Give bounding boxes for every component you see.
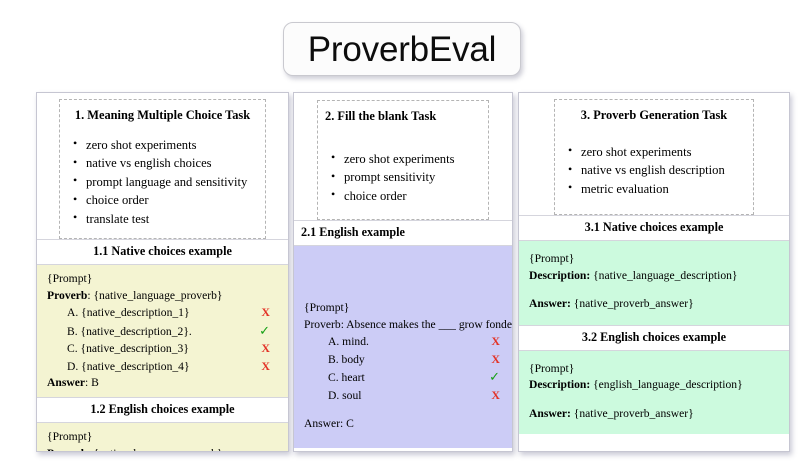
list-item: prompt language and sensitivity	[86, 173, 265, 192]
choice-text: A. mind.	[304, 334, 369, 350]
prompt-placeholder: {Prompt}	[529, 251, 789, 267]
task-bullet-list-3: zero shot experiments native vs english …	[555, 143, 753, 199]
wrong-icon: X	[491, 387, 512, 404]
choice-row: D. {native_description_4} X	[47, 358, 288, 375]
answer-value: : B	[85, 376, 99, 389]
list-item: prompt sensitivity	[344, 168, 488, 187]
spacer	[304, 404, 512, 416]
list-item: zero shot experiments	[581, 143, 753, 162]
list-item: choice order	[344, 187, 488, 206]
task-title-3: 3. Proverb Generation Task	[555, 104, 753, 127]
choice-row: A. mind. X	[304, 333, 512, 350]
choice-text: C. heart	[304, 370, 365, 386]
proverb-line: Proverb: {native_language_proverb}	[47, 288, 288, 304]
choice-text: A. {native_description_1}	[47, 305, 190, 321]
choice-row: B. {native_description_2}. ✓	[47, 322, 288, 340]
choice-text: D. {native_description_4}	[47, 359, 190, 375]
prompt-placeholder: {Prompt}	[529, 361, 789, 377]
section-heading-2-1: 2.1 English example	[294, 220, 512, 246]
choice-row: C. {native_description_3} X	[47, 340, 288, 357]
wrong-icon: X	[261, 358, 288, 375]
wrong-icon: X	[261, 340, 288, 357]
section-heading-1-2: 1.2 English choices example	[37, 397, 288, 423]
task-panel-proverb-generation: 3. Proverb Generation Task zero shot exp…	[518, 92, 790, 452]
list-item: choice order	[86, 191, 265, 210]
spacer	[529, 284, 789, 296]
proverbeval-overview-figure: { "title": { "text": "ProverbEval" }, "c…	[0, 0, 806, 468]
task-summary-block-3: 3. Proverb Generation Task zero shot exp…	[554, 99, 754, 215]
example-panel-3-1: {Prompt} Description: {native_language_d…	[519, 241, 789, 324]
page-title: ProverbEval	[308, 32, 496, 67]
figure-title-box: ProverbEval	[283, 22, 521, 76]
list-item: zero shot experiments	[344, 150, 488, 169]
proverb-label: Proverb	[47, 289, 87, 302]
section-heading-3-2: 3.2 English choices example	[519, 325, 789, 351]
list-item: translate test	[86, 210, 265, 229]
choice-text: D. soul	[304, 388, 362, 404]
section-heading-3-1: 3.1 Native choices example	[519, 215, 789, 241]
description-label: Description:	[529, 269, 590, 282]
proverb-label: Proverb	[47, 447, 87, 452]
answer-label: Answer:	[529, 297, 571, 310]
list-item: native vs english description	[581, 161, 753, 180]
task-panel-meaning-multiple-choice: 1. Meaning Multiple Choice Task zero sho…	[36, 92, 289, 452]
choice-row: A. {native_description_1} X	[47, 304, 288, 321]
task-title-2: 2. Fill the blank Task	[318, 105, 488, 128]
answer-value: {native_proverb_answer}	[571, 407, 694, 420]
choice-row: B. body X	[304, 351, 512, 368]
check-icon: ✓	[489, 368, 512, 386]
prompt-placeholder: {Prompt}	[304, 300, 512, 316]
description-label: Description:	[529, 378, 590, 391]
answer-line: Answer: {native_proverb_answer}	[529, 406, 789, 422]
task-panel-fill-the-blank: 2. Fill the blank Task zero shot experim…	[293, 92, 513, 452]
example-panel-3-2: {Prompt} Description: {english_language_…	[519, 351, 789, 434]
task-summary-block-1: 1. Meaning Multiple Choice Task zero sho…	[59, 99, 266, 239]
example-panel-2-1: {Prompt} Proverb: Absence makes the ___ …	[294, 246, 512, 448]
wrong-icon: X	[491, 333, 512, 350]
wrong-icon: X	[491, 351, 512, 368]
task-summary-block-2: 2. Fill the blank Task zero shot experim…	[317, 100, 489, 220]
proverb-line: Proverb: Absence makes the ___ grow fond…	[304, 317, 512, 333]
choice-text: C. {native_description_3}	[47, 341, 189, 357]
answer-line: Answer: {native_proverb_answer}	[529, 296, 789, 312]
list-item: metric evaluation	[581, 180, 753, 199]
task-bullet-list-2: zero shot experiments prompt sensitivity…	[318, 150, 488, 206]
proverb-line: Proverb: {native_language_proverb}	[47, 446, 288, 452]
prompt-placeholder: {Prompt}	[47, 271, 288, 287]
example-panel-1-1: {Prompt} Proverb: {native_language_prove…	[37, 265, 288, 397]
description-value: {native_language_description}	[590, 269, 737, 282]
choice-text: B. {native_description_2}.	[47, 324, 192, 340]
proverb-value: : {native_language_proverb}	[87, 447, 222, 452]
answer-line: Answer: B	[47, 375, 288, 391]
task-title-1: 1. Meaning Multiple Choice Task	[60, 104, 265, 127]
example-panel-1-2: {Prompt} Proverb: {native_language_prove…	[37, 423, 288, 452]
task-bullet-list-1: zero shot experiments native vs english …	[60, 136, 265, 229]
section-heading-1-1: 1.1 Native choices example	[37, 239, 288, 265]
description-line: Description: {english_language_descripti…	[529, 377, 789, 393]
description-value: {english_language_description}	[590, 378, 742, 391]
prompt-placeholder: {Prompt}	[47, 429, 288, 445]
check-icon: ✓	[259, 322, 288, 340]
list-item: zero shot experiments	[86, 136, 265, 155]
spacer	[529, 394, 789, 406]
answer-label: Answer	[47, 376, 85, 389]
wrong-icon: X	[261, 304, 288, 321]
proverb-value: : {native_language_proverb}	[87, 289, 222, 302]
answer-label: Answer:	[529, 407, 571, 420]
choice-row: C. heart ✓	[304, 368, 512, 386]
choice-row: D. soul X	[304, 387, 512, 404]
answer-value: {native_proverb_answer}	[571, 297, 694, 310]
choice-text: B. body	[304, 352, 365, 368]
description-line: Description: {native_language_descriptio…	[529, 268, 789, 284]
answer-line: Answer: C	[304, 416, 512, 432]
list-item: native vs english choices	[86, 154, 265, 173]
